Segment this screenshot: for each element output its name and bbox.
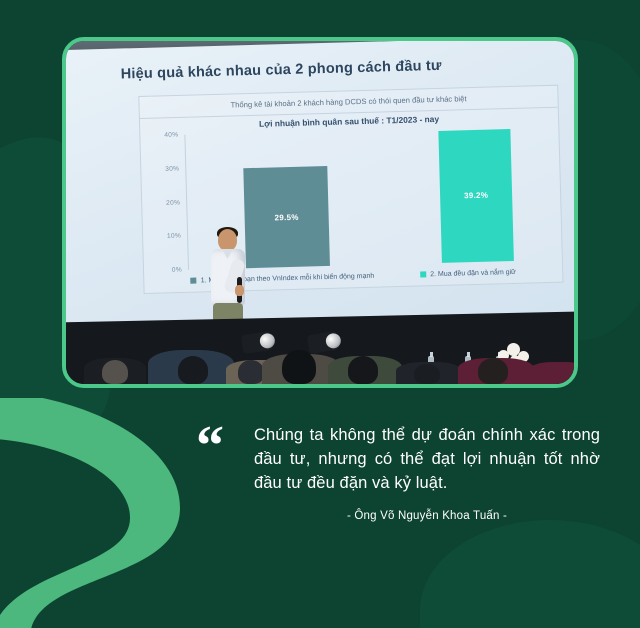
quote-mark-icon: “ — [196, 418, 221, 474]
y-tick-4: 40% — [164, 131, 178, 138]
slide-title: Hiệu quả khác nhau của 2 phong cách đầu … — [121, 58, 442, 83]
quote-author: - Ông Võ Nguyễn Khoa Tuấn - — [254, 510, 600, 522]
quote-text: Chúng ta không thể dự đoán chính xác tro… — [254, 424, 600, 496]
legend-swatch-icon-1 — [191, 278, 197, 284]
quote-card: Hiệu quả khác nhau của 2 phong cách đầu … — [0, 0, 640, 628]
slide-chart: Thống kê tài khoản 2 khách hàng DCDS có … — [138, 85, 563, 294]
audience-body — [528, 362, 574, 384]
y-tick-1: 10% — [167, 233, 181, 240]
quote-section: “ Chúng ta không thể dự đoán chính xác t… — [0, 410, 640, 550]
chart-y-axis: 0% 10% 20% 30% 40% — [140, 135, 188, 271]
presenter-head — [218, 229, 237, 251]
audience-head — [282, 350, 316, 384]
bar-value-label-2: 39.2% — [464, 190, 488, 200]
bar-series-1: 29.5% — [243, 166, 330, 268]
chart-plot-area: 0% 10% 20% 30% 40% 29.5% — [140, 125, 561, 271]
audience-head — [238, 360, 264, 384]
audience-head — [478, 358, 508, 384]
presenter-hand — [235, 285, 244, 296]
audience-head — [348, 356, 378, 384]
audience-head — [414, 364, 440, 384]
legend-swatch-icon-2 — [420, 271, 426, 277]
bar-series-2: 39.2% — [438, 129, 514, 263]
y-tick-3: 30% — [165, 165, 179, 172]
legend-item-2: 2. Mua đều đặn và nắm giữ — [420, 268, 516, 278]
legend-label-2: 2. Mua đều đặn và nắm giữ — [430, 268, 516, 277]
event-photo: Hiệu quả khác nhau của 2 phong cách đầu … — [66, 41, 574, 384]
audience-head — [102, 360, 128, 384]
audience-head — [178, 356, 208, 384]
bar-value-label-1: 29.5% — [274, 213, 298, 223]
event-photo-frame: Hiệu quả khác nhau của 2 phong cách đầu … — [62, 37, 578, 388]
y-tick-2: 20% — [166, 199, 180, 206]
projection-screen: Hiệu quả khác nhau của 2 phong cách đầu … — [66, 41, 574, 351]
